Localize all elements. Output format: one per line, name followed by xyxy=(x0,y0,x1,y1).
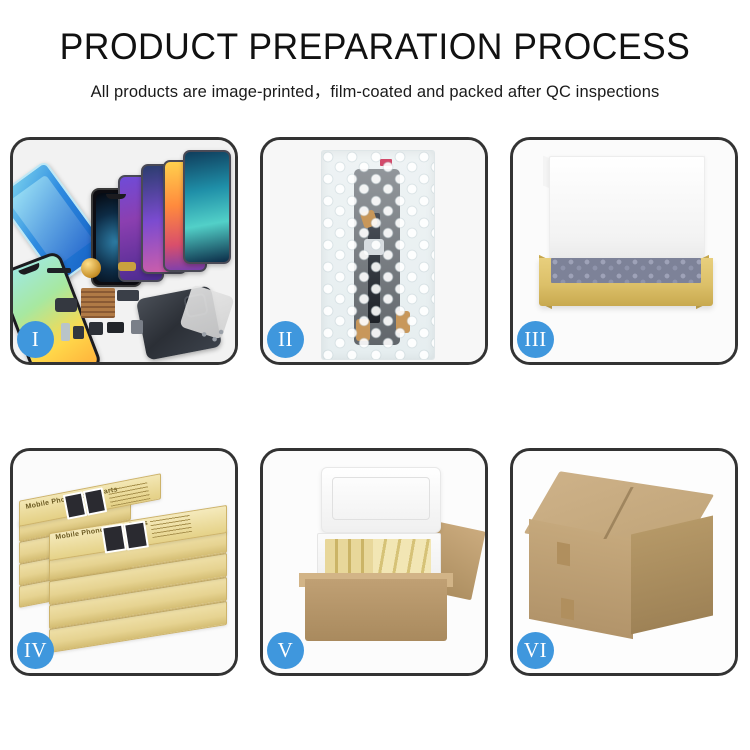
screws-group xyxy=(199,328,225,344)
product-preparation-page: PRODUCT PREPARATION PROCESS All products… xyxy=(0,0,750,750)
carton-tape-mark-1 xyxy=(557,542,570,567)
page-subtitle: All products are image-printed，film-coat… xyxy=(0,78,750,102)
white-box-lid xyxy=(549,156,705,272)
box-thumbnail-b2 xyxy=(123,520,149,550)
small-part-4 xyxy=(117,290,139,301)
foam-padding-insert xyxy=(551,258,701,283)
step-badge-4: IV xyxy=(17,632,54,669)
small-part-7 xyxy=(131,320,143,334)
step-badge-6: VI xyxy=(517,632,554,669)
chip-grid-part xyxy=(81,288,115,318)
small-part-8 xyxy=(61,323,70,341)
step-panel-5[interactable]: V xyxy=(260,448,488,676)
step-panel-4[interactable]: Mobile Phone Spare Parts Mobile Phone Sp… xyxy=(10,448,238,676)
page-header: PRODUCT PREPARATION PROCESS All products… xyxy=(0,0,750,102)
step-badge-5: V xyxy=(267,632,304,669)
step-panel-1[interactable]: I xyxy=(10,137,238,365)
small-part-2 xyxy=(118,262,136,271)
carton-body xyxy=(305,579,447,641)
step-panel-6[interactable]: VI xyxy=(510,448,738,676)
small-part-3 xyxy=(55,298,77,312)
box-stack: Mobile Phone Spare Parts Mobile Phone Sp… xyxy=(17,465,231,665)
small-part-5 xyxy=(89,322,103,335)
small-part-6 xyxy=(107,322,124,333)
process-steps-grid: I II xyxy=(10,137,740,676)
carton-side-face xyxy=(631,516,713,635)
step-panel-2[interactable]: II xyxy=(260,137,488,365)
speaker-coil-part xyxy=(81,258,101,278)
carton-tape-mark-2 xyxy=(561,598,574,621)
teal-phone-screen xyxy=(183,150,231,264)
carton-front-face xyxy=(529,519,633,639)
bubble-wrap-bag xyxy=(321,150,435,360)
small-part-9 xyxy=(73,326,84,339)
small-part-1 xyxy=(47,268,71,273)
step-panel-3[interactable]: III xyxy=(510,137,738,365)
styrofoam-lid xyxy=(321,467,441,533)
step-badge-1: I xyxy=(17,321,54,358)
step-badge-3: III xyxy=(517,321,554,358)
step-badge-2: II xyxy=(267,321,304,358)
bubble-texture xyxy=(322,151,434,359)
page-title: PRODUCT PREPARATION PROCESS xyxy=(15,28,735,67)
